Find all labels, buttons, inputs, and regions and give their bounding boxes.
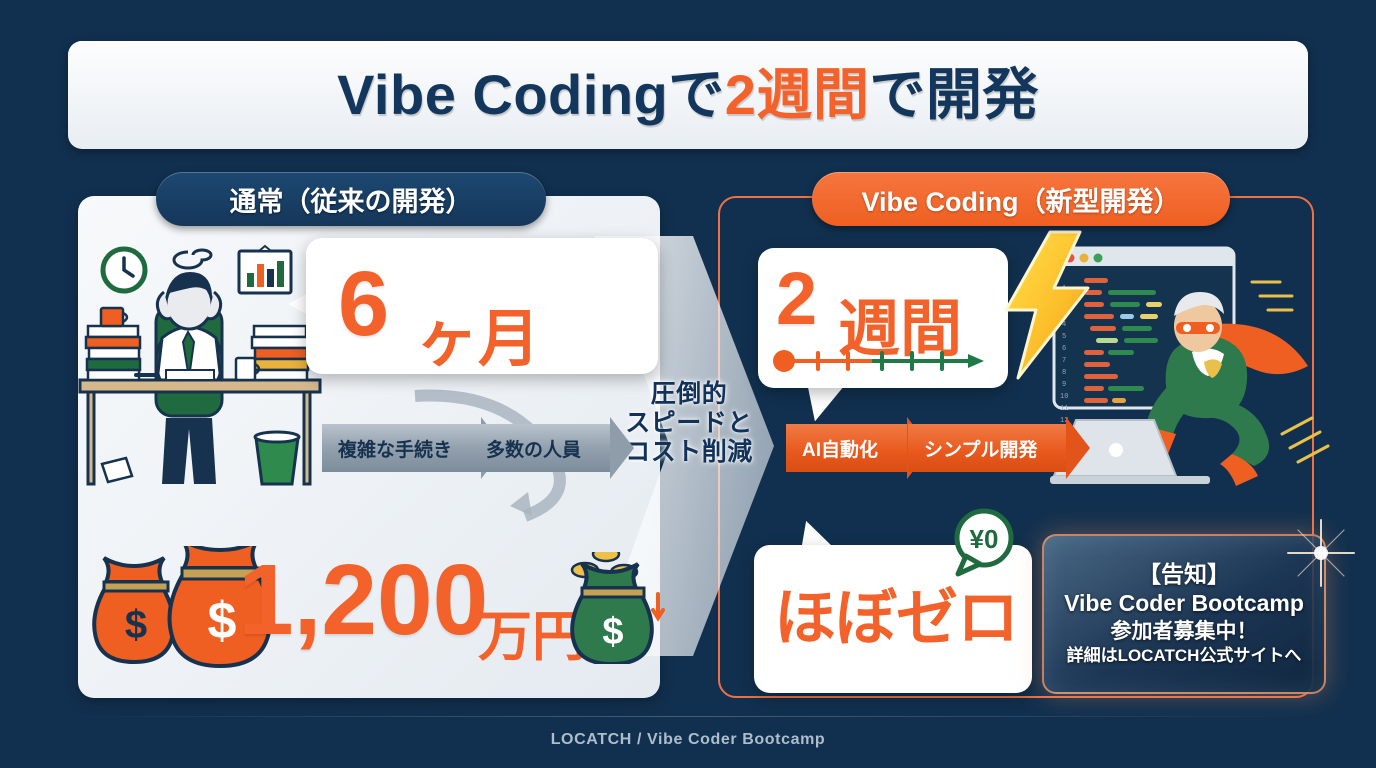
announcement-box[interactable]: 【告知】 Vibe Coder Bootcamp 参加者募集中！ 詳細はLOCA… bbox=[1042, 534, 1326, 694]
footer-credit: LOCATCH / Vibe Coder Bootcamp bbox=[0, 731, 1376, 749]
stressed-office-worker-illustration bbox=[76, 228, 328, 513]
vibe-panel-label-text: Vibe Coding（新型開発） bbox=[861, 180, 1180, 219]
legacy-duration-card: 6 ヶ月 bbox=[306, 238, 658, 374]
legacy-panel-label-text: 通常（従来の開発） bbox=[230, 180, 473, 219]
legacy-arrow-1: 複雑な手続き bbox=[322, 424, 482, 472]
infographic-canvas: Vibe Codingで2週間で開発 bbox=[0, 0, 1376, 768]
page-title: Vibe Codingで2週間で開発 bbox=[337, 67, 1039, 123]
announcement-line-1: 【告知】 bbox=[1138, 560, 1230, 589]
title-highlight: 2週間 bbox=[725, 63, 870, 126]
svg-text:$: $ bbox=[602, 611, 623, 653]
legacy-arrow-1-label: 複雑な手続き bbox=[338, 435, 452, 462]
title-banner: Vibe Codingで2週間で開発 bbox=[68, 41, 1308, 149]
green-money-bag-icon: $ bbox=[560, 552, 670, 664]
vibe-arrow-1-label: AI自動化 bbox=[802, 435, 878, 462]
yen-zero-badge: ¥0 bbox=[946, 508, 1022, 580]
timeline-icon bbox=[772, 348, 990, 374]
svg-text:10: 10 bbox=[1060, 393, 1068, 401]
vibe-duration-number: 2 bbox=[776, 262, 817, 336]
comparison-line-1: 圧倒的 bbox=[596, 380, 782, 409]
legacy-duration-number: 6 bbox=[338, 258, 389, 350]
legacy-duration-unit: ヶ月 bbox=[416, 288, 540, 378]
legacy-arrow-2-body: 多数の人員 bbox=[470, 424, 611, 472]
vibe-cost-text: ほぼゼロ bbox=[774, 567, 1018, 657]
vibe-arrow-1-body: AI自動化 bbox=[786, 424, 908, 472]
vibe-panel-label: Vibe Coding（新型開発） bbox=[812, 172, 1230, 226]
title-suffix: で開発 bbox=[869, 63, 1039, 126]
vibe-arrow-1: AI自動化 bbox=[786, 424, 908, 472]
legacy-panel-label: 通常（従来の開発） bbox=[156, 172, 546, 226]
svg-text:9: 9 bbox=[1062, 381, 1066, 389]
announcement-line-3: 参加者募集中！ bbox=[1111, 618, 1258, 645]
title-prefix: Vibe Codingで bbox=[337, 63, 725, 126]
announcement-line-2: Vibe Coder Bootcamp bbox=[1064, 589, 1304, 618]
footer-divider bbox=[68, 716, 1308, 717]
yen-zero-label: ¥0 bbox=[970, 524, 999, 554]
legacy-arrow-2-label: 多数の人員 bbox=[486, 435, 581, 462]
legacy-cost-number: 1,200 bbox=[238, 550, 488, 650]
legacy-arrow-2: 多数の人員 bbox=[470, 424, 611, 472]
announcement-line-4: 詳細はLOCATCH公式サイトへ bbox=[1067, 645, 1302, 668]
lightning-bolt-icon bbox=[992, 230, 1102, 380]
vibe-arrow-2-body: シンプル開発 bbox=[908, 424, 1067, 472]
vibe-arrow-2-label: シンプル開発 bbox=[924, 435, 1037, 462]
svg-text:11: 11 bbox=[1060, 405, 1068, 413]
vibe-arrow-2: シンプル開発 bbox=[908, 424, 1067, 472]
legacy-arrow-1-body: 複雑な手続き bbox=[322, 424, 482, 472]
